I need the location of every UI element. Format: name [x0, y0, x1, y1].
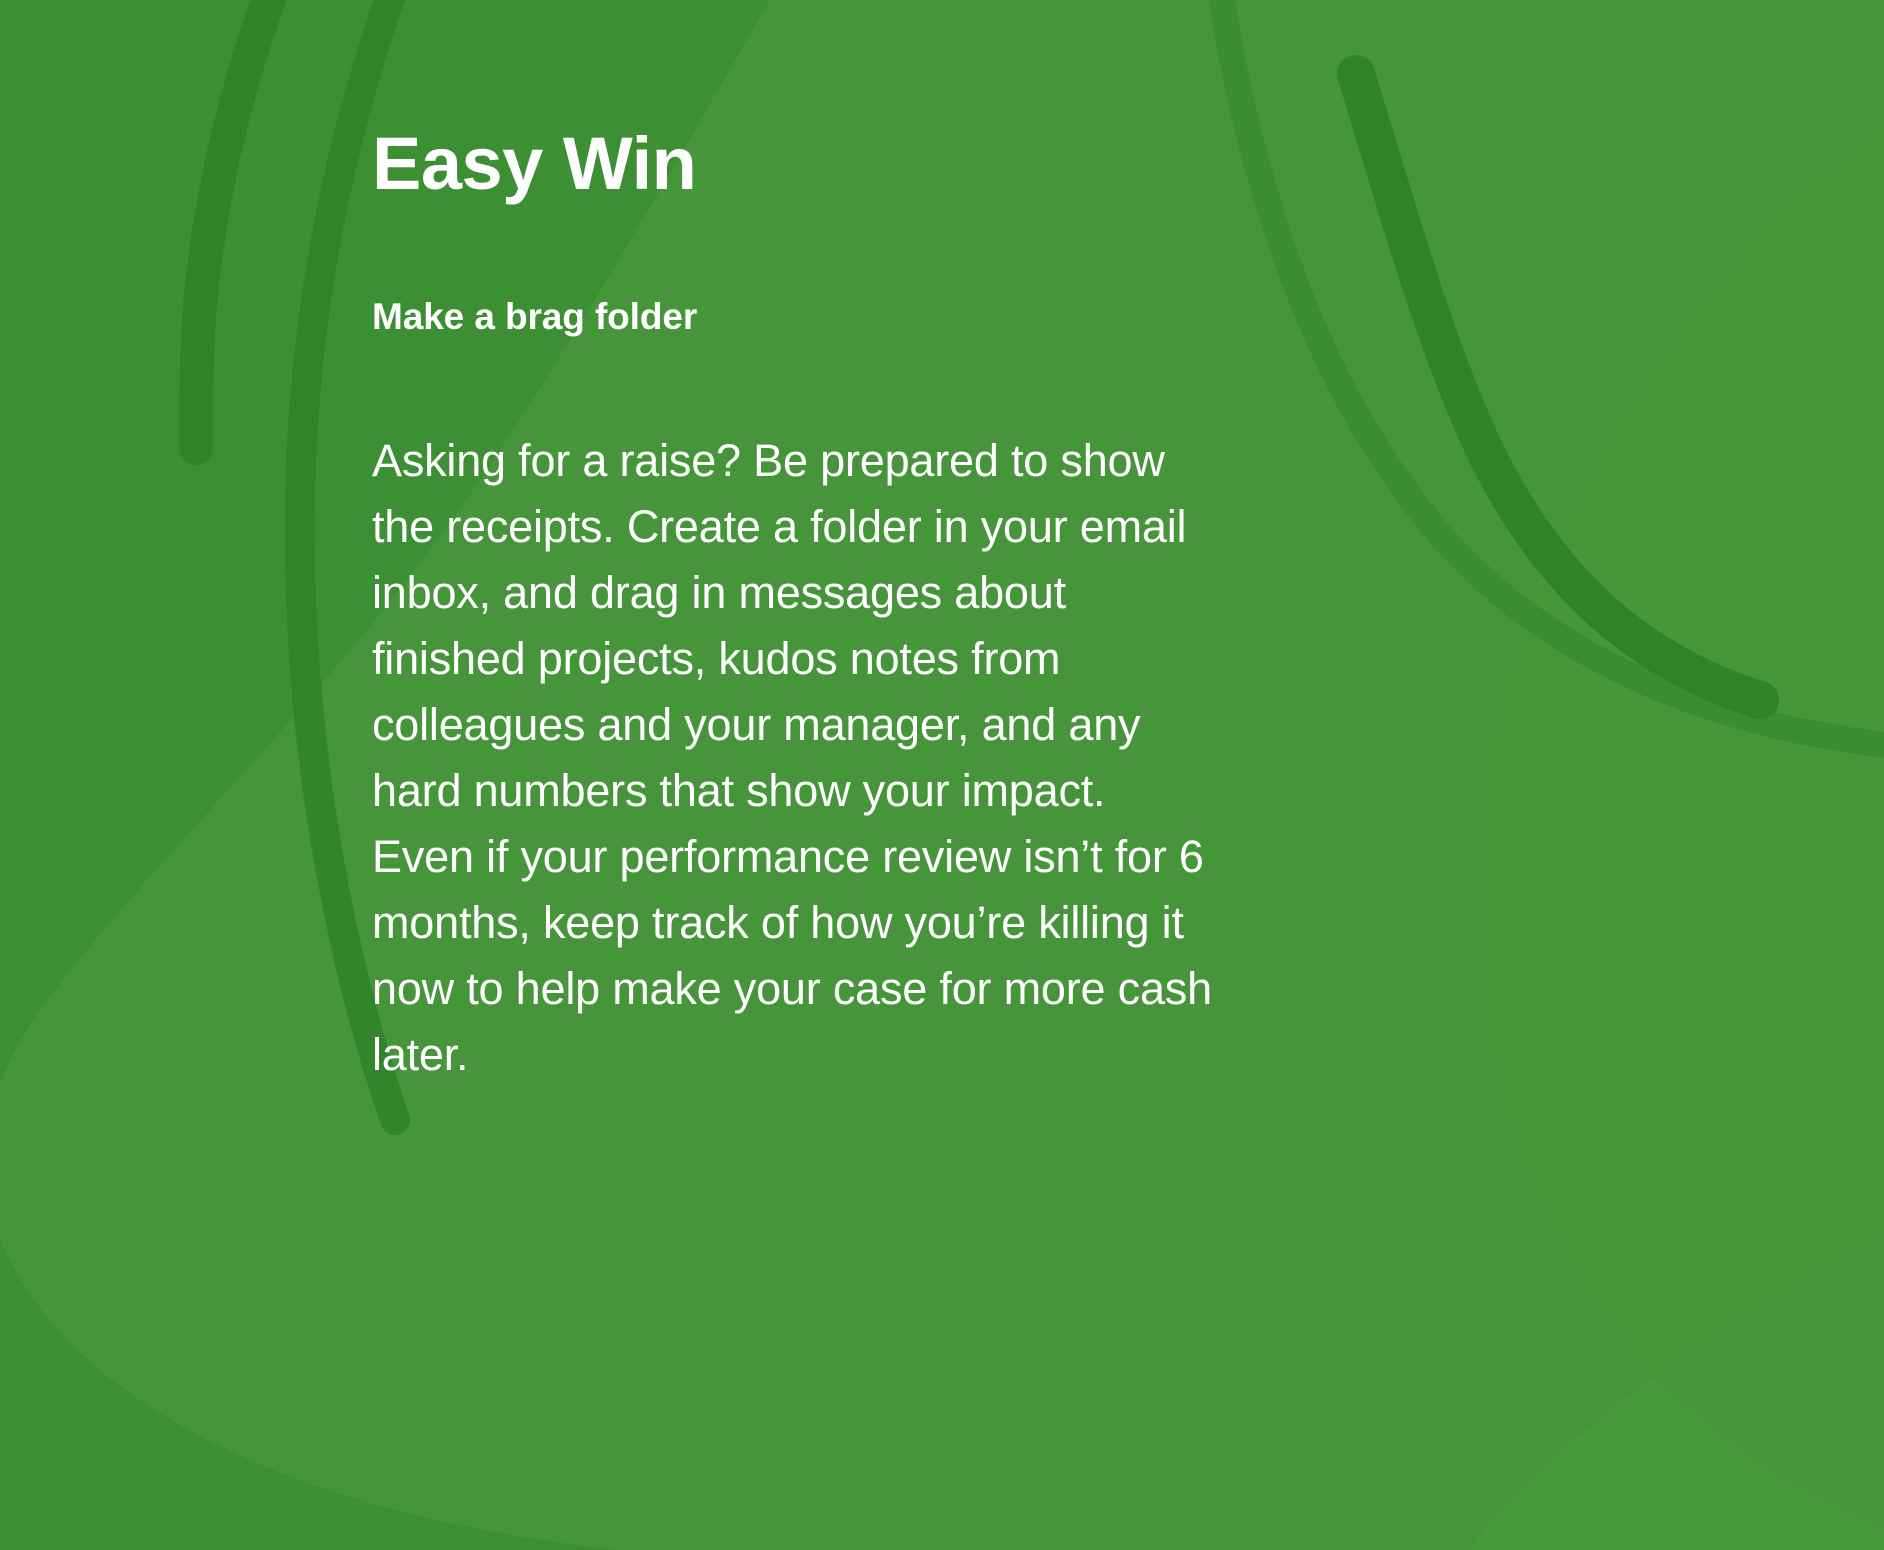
easy-win-card: Easy Win Make a brag folder Asking for a… [0, 0, 1884, 1550]
blob-shape-bottom-right [1470, 1240, 1884, 1550]
card-content: Easy Win Make a brag folder Asking for a… [372, 0, 1472, 1550]
stroke-curve-left [196, 0, 280, 448]
blob-shape-right-edge [1474, 120, 1884, 1530]
card-body-text: Asking for a raise? Be prepared to show … [372, 428, 1217, 1088]
card-headline: Make a brag folder [372, 295, 697, 339]
page-title: Easy Win [372, 127, 696, 201]
